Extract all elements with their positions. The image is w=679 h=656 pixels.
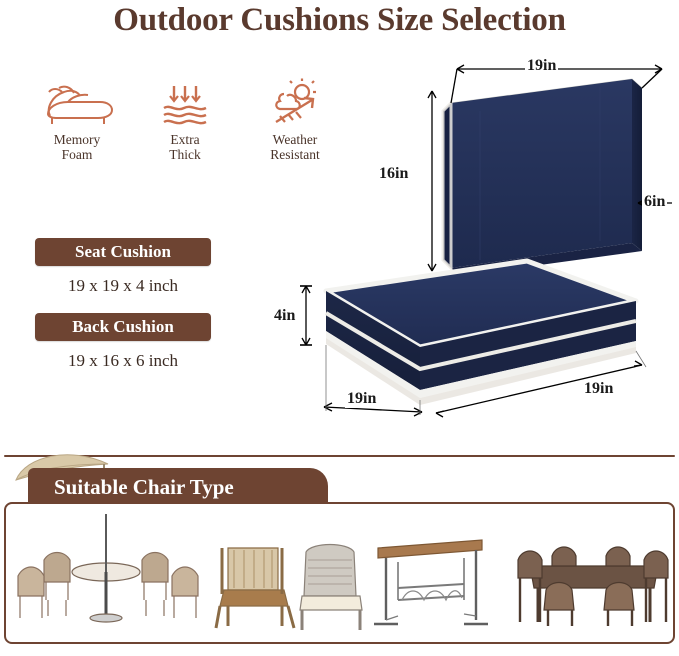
memory-foam-icon bbox=[22, 78, 132, 130]
wicker-armchair-icon bbox=[300, 545, 362, 631]
dim-back-width: 19in bbox=[525, 57, 558, 75]
suitable-chair-banner: Suitable Chair Type bbox=[28, 468, 328, 506]
product-illustration: 19in 16in 6in 4in 19in 19in bbox=[280, 55, 678, 435]
suitable-chair-strip bbox=[4, 502, 675, 644]
page-title: Outdoor Cushions Size Selection bbox=[0, 2, 679, 39]
feature-extra-thick: Extra Thick bbox=[130, 78, 240, 162]
dim-seat-thickness: 4in bbox=[272, 307, 297, 325]
poster-root: Outdoor Cushions Size Selection Memory F… bbox=[0, 0, 679, 656]
extra-thick-icon bbox=[130, 78, 240, 130]
dim-back-height: 16in bbox=[377, 165, 410, 183]
wood-armchair-icon bbox=[216, 548, 294, 628]
patio-dining-set-icon bbox=[18, 514, 198, 622]
feature-memory-foam: Memory Foam bbox=[22, 78, 132, 162]
dim-back-thickness: 6in bbox=[642, 193, 667, 211]
feature-label: Memory Foam bbox=[22, 132, 132, 162]
seat-cushion-dims: 19 x 19 x 4 inch bbox=[23, 276, 223, 296]
seat-cushion-pill: Seat Cushion bbox=[35, 238, 211, 266]
feature-label-line1: Extra bbox=[170, 132, 199, 147]
feature-label-line2: Thick bbox=[169, 147, 201, 162]
back-cushion-dims: 19 x 16 x 6 inch bbox=[23, 351, 223, 371]
feature-label-line1: Memory bbox=[54, 132, 101, 147]
back-cushion-pill: Back Cushion bbox=[35, 313, 211, 341]
dim-seat-front-width: 19in bbox=[345, 390, 378, 408]
feature-label: Extra Thick bbox=[130, 132, 240, 162]
rattan-dining-set-icon bbox=[518, 547, 668, 626]
dim-seat-depth: 19in bbox=[582, 380, 615, 398]
porch-swing-icon bbox=[374, 540, 488, 624]
feature-label-line2: Foam bbox=[62, 147, 93, 162]
